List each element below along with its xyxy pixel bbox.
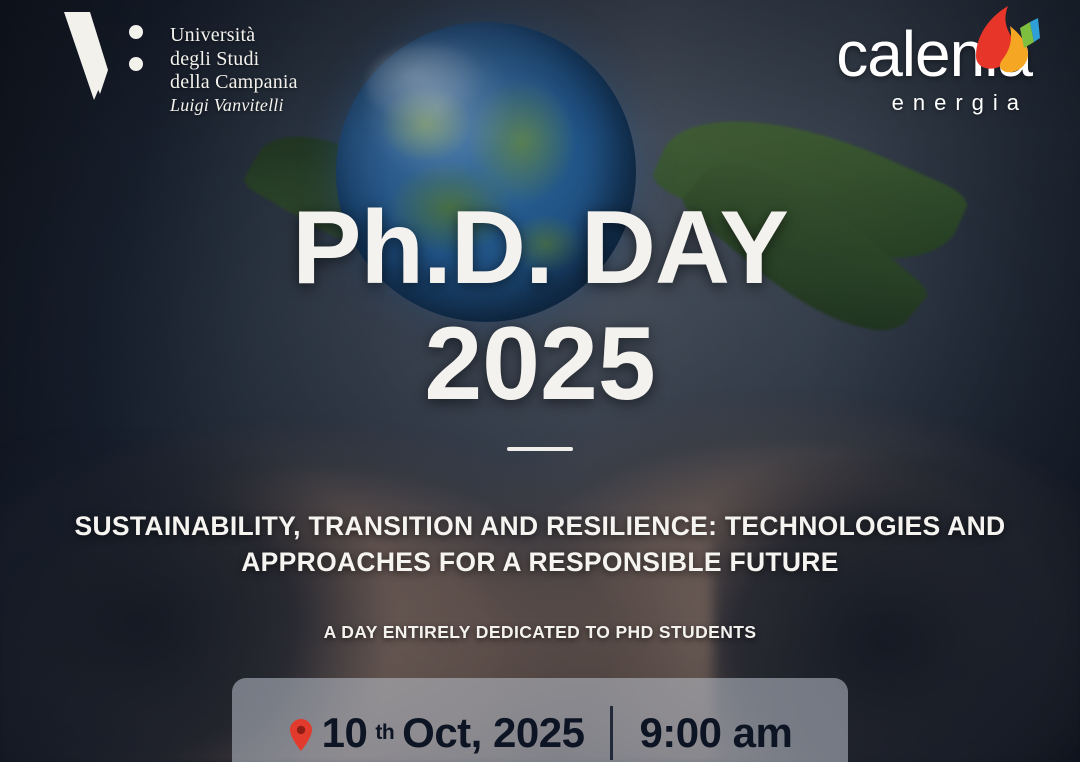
calenia-tagline: energia (836, 92, 1032, 114)
map-pin-icon (288, 714, 314, 748)
university-line-3: della Campania (170, 71, 298, 95)
event-title: Ph.D. DAY (0, 196, 1080, 300)
university-line-1: Università (170, 24, 298, 48)
event-info-bar: 10th Oct, 2025 9:00 am (232, 678, 848, 762)
vanvitelli-v-monogram-icon (60, 8, 152, 104)
calenia-flame-icon (968, 4, 1040, 78)
phd-day-poster: Università degli Studi della Campania Lu… (0, 0, 1080, 762)
event-tagline: A DAY ENTIRELY DEDICATED TO PHD STUDENTS (0, 622, 1080, 643)
university-line-4: Luigi Vanvitelli (170, 95, 298, 116)
university-line-2: degli Studi (170, 48, 298, 72)
calenia-logo: calenia energia (836, 22, 1032, 114)
info-bar-divider (610, 706, 613, 760)
event-date-rest: Oct, 2025 (402, 709, 584, 757)
title-divider-rule (507, 447, 573, 451)
event-time: 9:00 am (639, 709, 792, 757)
event-day-number: 10 (322, 709, 368, 757)
event-subtitle: SUSTAINABILITY, TRANSITION AND RESILIENC… (70, 508, 1010, 580)
event-date: 10th Oct, 2025 (288, 709, 585, 757)
event-year: 2025 (0, 310, 1080, 419)
university-logo: Università degli Studi della Campania Lu… (60, 8, 298, 116)
title-block: Ph.D. DAY 2025 (0, 196, 1080, 451)
event-day-suffix: th (375, 721, 394, 745)
university-name-block: Università degli Studi della Campania Lu… (170, 8, 298, 116)
